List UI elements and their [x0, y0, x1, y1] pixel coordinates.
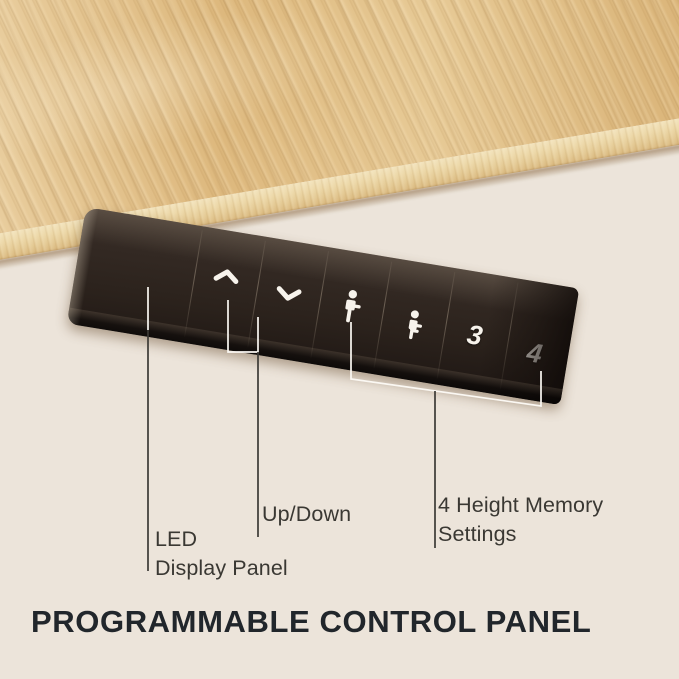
programmable-control-panel: 3 4: [64, 207, 579, 419]
headline: PROGRAMMABLE CONTROL PANEL: [31, 604, 591, 640]
callout-up-down: Up/Down: [262, 500, 351, 529]
product-feature-image: 3 4 LED Display Panel Up/Down 4 Height M…: [0, 0, 679, 679]
callout-led-display-panel: LED Display Panel: [155, 525, 288, 582]
sitting-person-icon: [402, 309, 429, 342]
control-panel-body: 3 4: [67, 207, 580, 405]
callout-height-memory: 4 Height Memory Settings: [438, 491, 603, 548]
standing-person-icon: [340, 288, 365, 325]
chevron-up-icon: [212, 267, 241, 290]
chevron-down-icon: [274, 285, 303, 308]
